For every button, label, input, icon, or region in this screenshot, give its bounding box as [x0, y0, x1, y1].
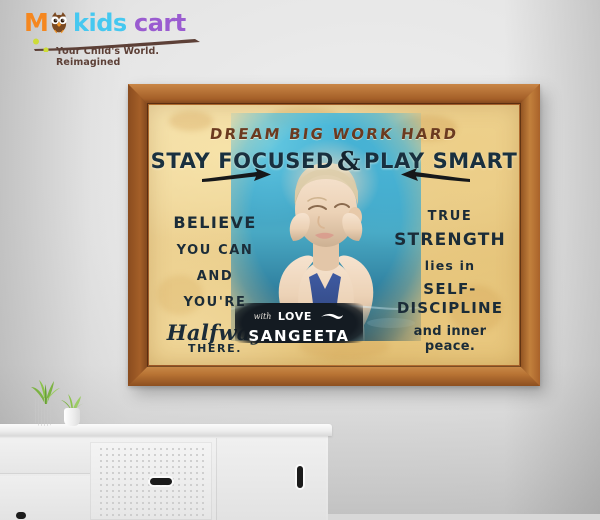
cabinet-knob[interactable] — [16, 512, 26, 519]
cabinet-right-door[interactable] — [216, 438, 326, 520]
picture-frame[interactable]: DREAM BIG WORK HARD STAY FOCUSED&PLAY SM… — [128, 84, 540, 386]
headline-ampersand: & — [334, 147, 364, 177]
left-line-2: YOU CAN — [161, 243, 269, 258]
name-banner-text: with LOVE SANGEETA — [235, 303, 363, 343]
love-word: LOVE — [278, 311, 312, 322]
poster-headline-top: DREAM BIG WORK HARD — [149, 125, 519, 143]
arrow-left-icon — [399, 167, 471, 185]
logo-wordmark: M kids cart — [18, 8, 208, 38]
plant-vase-small — [64, 408, 80, 426]
with-word: with — [254, 313, 272, 321]
right-line-3: lies in — [387, 258, 513, 273]
right-line-5: DISCIPLINE — [387, 299, 513, 317]
flourish-icon — [320, 312, 344, 321]
right-line-4: SELF- — [387, 280, 513, 298]
sideboard-cabinet — [0, 424, 332, 520]
poster-artwork: DREAM BIG WORK HARD STAY FOCUSED&PLAY SM… — [149, 105, 519, 365]
logo-letter-m: M — [24, 8, 48, 37]
right-line-6: and inner peace. — [387, 324, 513, 354]
cabinet-drawer-top[interactable] — [0, 438, 90, 474]
logo-word-cart: cart — [134, 9, 186, 37]
room-scene: M kids cart Your Child's World. — [0, 0, 600, 514]
owl-icon — [48, 10, 70, 34]
cabinet-handle-horizontal[interactable] — [150, 478, 172, 485]
right-line-2: STRENGTH — [387, 230, 513, 250]
with-love-row: with LOVE — [235, 309, 363, 325]
brand-logo[interactable]: M kids cart Your Child's World. — [18, 8, 208, 64]
logo-word-kids: kids — [73, 9, 127, 37]
cabinet-top-surface — [0, 424, 332, 436]
left-line-1: BELIEVE — [161, 213, 269, 232]
cabinet-drawer-bottom[interactable] — [0, 476, 90, 520]
brand-tagline: Your Child's World. Reimagined — [56, 46, 208, 68]
poster-right-column: TRUE STRENGTH lies in SELF- DISCIPLINE a… — [387, 209, 513, 354]
recipient-name: SANGEETA — [235, 327, 363, 345]
right-line-1: TRUE — [387, 209, 513, 224]
left-line-3: AND — [161, 269, 269, 284]
cabinet-handle-vertical[interactable] — [297, 466, 303, 488]
arrow-right-icon — [201, 167, 273, 185]
plant-vase-tall — [35, 398, 53, 426]
